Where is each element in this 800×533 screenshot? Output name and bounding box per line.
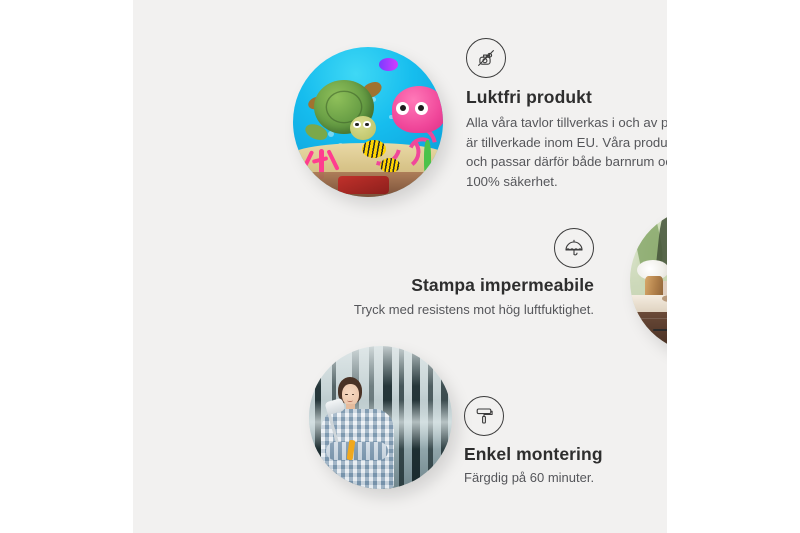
- content-panel: Luktfri produkt Alla våra tavlor tillver…: [133, 0, 667, 533]
- smile: [347, 399, 353, 402]
- octopus-eye: [415, 102, 428, 115]
- striped-fish-icon: [362, 140, 386, 158]
- feature-body: Alla våra tavlor tillverkas i och av pro…: [466, 113, 667, 191]
- feature-title: Enkel montering: [464, 444, 667, 465]
- feature-title: Luktfri produkt: [466, 87, 667, 108]
- purple-fish-icon: [379, 58, 399, 72]
- feature-waterproof: Stampa impermeabile Tryck med resistens …: [313, 228, 594, 320]
- underwater-kids-mural-image: [293, 47, 443, 197]
- room-floor-strip: [293, 172, 443, 198]
- turtle-eye: [353, 121, 361, 128]
- no-perfume-spray-icon: [466, 38, 506, 78]
- eye: [345, 394, 347, 396]
- paint-roller-icon: [464, 396, 504, 436]
- feature-body: Tryck med resistens mot hög luftfuktighe…: [313, 300, 594, 320]
- octopus-eye: [396, 102, 409, 115]
- feature-odorless: Luktfri produkt Alla våra tavlor tillver…: [466, 38, 667, 191]
- umbrella-icon: [554, 228, 594, 268]
- feature-easy-install: Enkel montering Färgdig på 60 minuter.: [464, 396, 667, 488]
- vanity-cabinet: [633, 312, 667, 353]
- promo-graphic: Luktfri produkt Alla våra tavlor tillver…: [0, 0, 800, 533]
- woman-figure: [318, 377, 398, 489]
- crossed-arms: [326, 442, 388, 460]
- face: [342, 384, 360, 406]
- bathroom-botanical-wallpaper-image: [630, 208, 667, 353]
- drawer-handle: [653, 329, 667, 331]
- eye: [352, 394, 354, 396]
- feature-title: Stampa impermeabile: [313, 275, 594, 296]
- octopus-head: [392, 86, 443, 133]
- feature-body: Färgdig på 60 minuter.: [464, 468, 667, 488]
- woman-painter-forest-mural-image: [309, 346, 452, 489]
